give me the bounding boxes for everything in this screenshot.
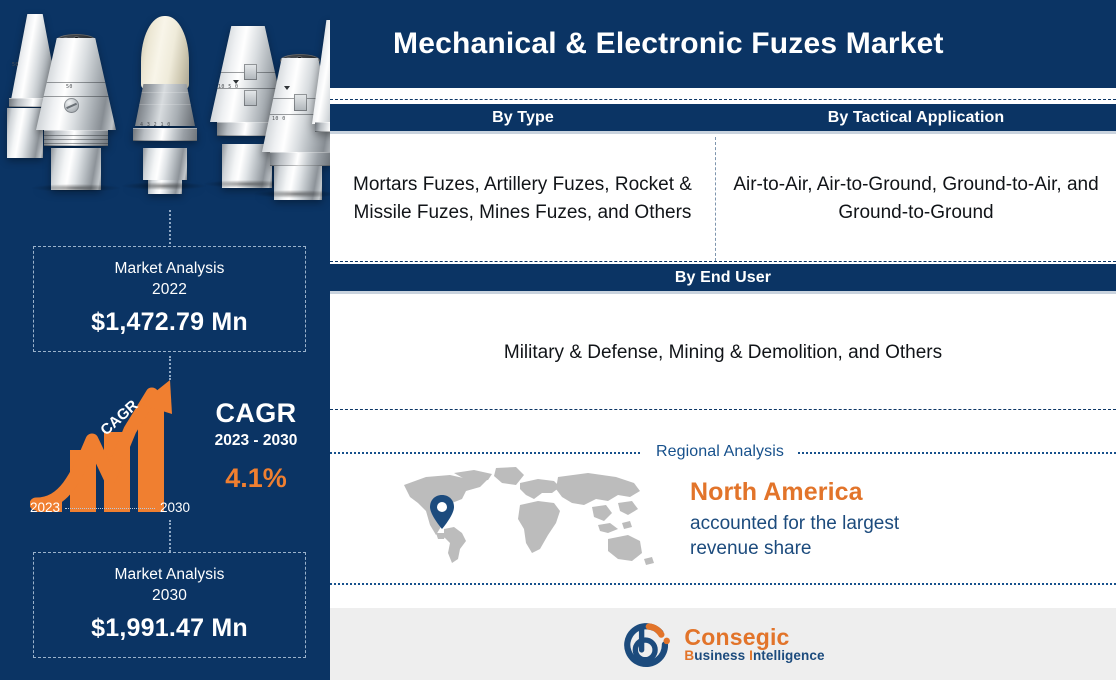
divider-mid — [330, 261, 1116, 262]
market-2022-label: Market Analysis — [114, 260, 224, 277]
consegic-logo[interactable]: Consegic Business Intelligence — [621, 621, 824, 668]
footer-bar: Consegic Business Intelligence — [330, 608, 1116, 680]
region-name: North America — [690, 478, 1070, 507]
region-description-line1: accounted for the largest — [690, 513, 899, 534]
market-2022-value: $1,472.79 Mn — [42, 308, 297, 337]
market-analysis-2022-box: Market Analysis 2022 $1,472.79 Mn — [33, 246, 306, 352]
segment-body-by-end-user: Military & Defense, Mining & Demolition,… — [330, 297, 1116, 409]
segment-body-row: Mortars Fuzes, Artillery Fuzes, Rocket &… — [330, 137, 1116, 261]
market-2022-year: 2022 — [152, 281, 187, 298]
world-map-svg — [392, 463, 662, 571]
cagr-axis-end: 2030 — [160, 500, 190, 515]
fuze-products-photo: 50 50 — [0, 0, 330, 222]
page-title: Mechanical & Electronic Fuzes Market — [330, 27, 944, 61]
segment-body-by-tactical-application: Air-to-Air, Air-to-Ground, Ground-to-Air… — [716, 137, 1116, 261]
divider-end-user-bottom — [330, 409, 1116, 410]
fuze-item-1: 50 — [24, 20, 128, 202]
market-analysis-2030-box: Market Analysis 2030 $1,991.47 Mn — [33, 552, 306, 658]
world-map — [392, 463, 662, 571]
market-2030-value: $1,991.47 Mn — [42, 614, 297, 643]
logo-tagline: Business Intelligence — [684, 649, 824, 663]
logo-brand: Consegic — [684, 625, 824, 649]
cagr-label: CAGR — [186, 398, 326, 429]
market-2030-year: 2030 — [152, 587, 187, 604]
market-2030-label: Market Analysis — [114, 566, 224, 583]
connector-dots-top — [169, 210, 171, 244]
end-user-body-row: Military & Defense, Mining & Demolition,… — [330, 297, 1116, 409]
segment-header-row: By Type By Tactical Application — [330, 104, 1116, 134]
cagr-growth-chart-icon: CAGR 2023 2030 — [30, 374, 190, 522]
segment-header-by-type: By Type — [330, 109, 716, 127]
cagr-axis-arrow — [65, 508, 155, 509]
cagr-axis-start: 2023 — [30, 500, 60, 515]
fuze-item-5 — [312, 20, 330, 170]
cagr-value: 4.1% — [186, 463, 326, 494]
cagr-section: CAGR 2023 2030 CAGR 2023 - 2030 4.1% — [0, 372, 330, 522]
infographic-page: 50 50 — [0, 0, 1116, 680]
end-user-header-row: By End User — [330, 264, 1116, 294]
regional-text: North America accounted for the largest … — [690, 478, 1070, 561]
segment-header-by-tactical-application: By Tactical Application — [716, 109, 1116, 127]
divider-regional-bottom — [330, 583, 1116, 585]
title-bar: Mechanical & Electronic Fuzes Market — [330, 0, 1116, 88]
segment-header-by-end-user: By End User — [330, 269, 1116, 287]
connector-dots-mid-lower — [169, 520, 171, 552]
fuze-item-2: 4 3 2 1 0 — [118, 10, 212, 200]
divider-top — [330, 99, 1116, 100]
regional-analysis-label: Regional Analysis — [642, 443, 798, 461]
region-description-line2: revenue share — [690, 538, 811, 559]
segment-body-by-type: Mortars Fuzes, Artillery Fuzes, Rocket &… — [330, 137, 716, 261]
consegic-logo-mark-icon — [621, 621, 673, 668]
cagr-years: 2023 - 2030 — [186, 432, 326, 450]
content-area: Mechanical & Electronic Fuzes Market By … — [330, 0, 1116, 680]
left-sidebar: 50 50 — [0, 0, 330, 680]
